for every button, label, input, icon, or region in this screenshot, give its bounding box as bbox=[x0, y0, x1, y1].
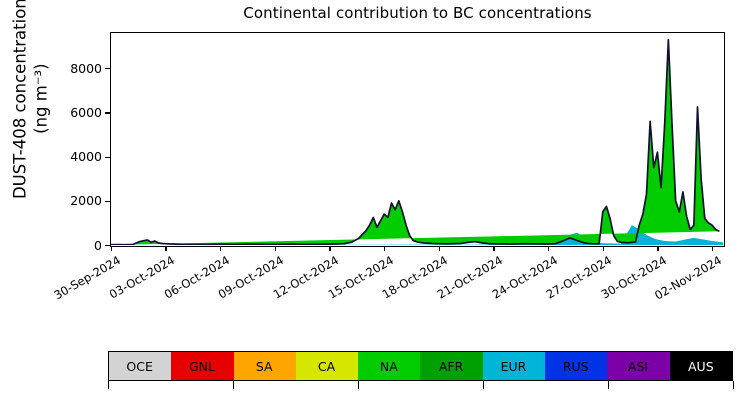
legend-item-na[interactable]: NA bbox=[358, 352, 420, 380]
legend-tick-marks bbox=[108, 381, 733, 389]
y-axis-label-line1: DUST-408 concentration bbox=[10, 0, 29, 199]
legend-item-afr[interactable]: AFR bbox=[420, 352, 482, 380]
x-tick-label: 30-Sep-2024 bbox=[29, 253, 123, 315]
legend-item-aus[interactable]: AUS bbox=[670, 352, 732, 380]
legend-item-label: AUS bbox=[688, 359, 714, 374]
legend-item-ca[interactable]: CA bbox=[296, 352, 358, 380]
legend-tick-mark bbox=[108, 381, 109, 389]
legend-item-label: CA bbox=[318, 359, 335, 374]
legend-item-eur[interactable]: EUR bbox=[483, 352, 545, 380]
legend-item-label: EUR bbox=[501, 359, 527, 374]
legend-tick-mark bbox=[608, 381, 609, 389]
legend-item-label: NA bbox=[380, 359, 398, 374]
legend-item-label: AFR bbox=[439, 359, 463, 374]
plot-area bbox=[110, 32, 725, 247]
legend-tick-mark bbox=[733, 381, 734, 389]
legend-item-asi[interactable]: ASI bbox=[607, 352, 669, 380]
y-tick-mark bbox=[105, 112, 110, 113]
y-tick-label: 6000 bbox=[56, 107, 102, 120]
chart-title: Continental contribution to BC concentra… bbox=[110, 4, 725, 22]
legend-item-rus[interactable]: RUS bbox=[545, 352, 607, 380]
y-tick-mark bbox=[105, 157, 110, 158]
series-area-na bbox=[111, 40, 719, 245]
legend-item-gnl[interactable]: GNL bbox=[171, 352, 233, 380]
y-axis-label-line2: (ng m⁻³) bbox=[31, 0, 52, 224]
y-tick-label: 8000 bbox=[56, 63, 102, 76]
y-tick-label: 4000 bbox=[56, 151, 102, 164]
legend-item-label: SA bbox=[256, 359, 273, 374]
y-tick-mark bbox=[105, 68, 110, 69]
y-tick-label: 0 bbox=[56, 240, 102, 253]
legend-item-label: RUS bbox=[563, 359, 589, 374]
legend-item-oce[interactable]: OCE bbox=[109, 352, 171, 380]
legend-tick-mark bbox=[358, 381, 359, 389]
legend-item-label: OCE bbox=[126, 359, 152, 374]
legend-tick-mark bbox=[483, 381, 484, 389]
y-axis-label: DUST-408 concentration (ng m⁻³) bbox=[10, 0, 51, 224]
legend-tick-mark bbox=[233, 381, 234, 389]
y-tick-mark bbox=[105, 245, 110, 246]
continent-legend: OCEGNLSACANAAFREURRUSASIAUS bbox=[108, 351, 733, 381]
series-plot bbox=[111, 33, 723, 245]
y-tick-label: 2000 bbox=[56, 195, 102, 208]
chart-page: Continental contribution to BC concentra… bbox=[0, 0, 739, 402]
legend-item-label: ASI bbox=[628, 359, 648, 374]
y-tick-mark bbox=[105, 201, 110, 202]
legend-item-label: GNL bbox=[189, 359, 215, 374]
legend-item-sa[interactable]: SA bbox=[234, 352, 296, 380]
total-concentration-line bbox=[111, 40, 719, 245]
